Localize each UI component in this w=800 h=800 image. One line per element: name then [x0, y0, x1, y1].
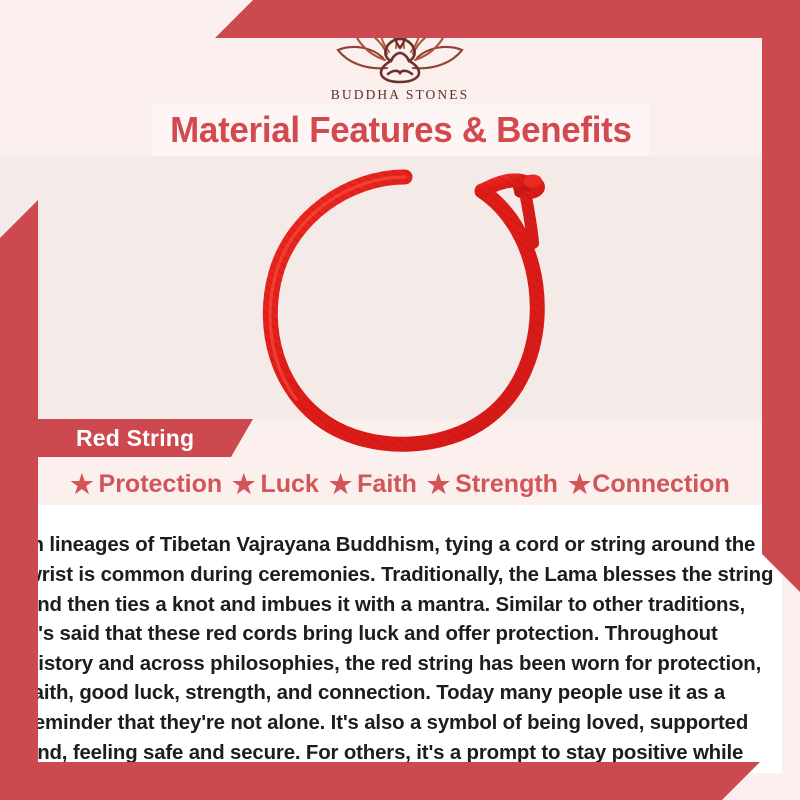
product-image-area — [0, 157, 800, 419]
product-label-banner: Red String — [18, 419, 253, 457]
star-icon: ★ — [232, 471, 255, 497]
decorative-band-bottom — [0, 762, 760, 800]
star-icon: ★ — [427, 471, 450, 497]
benefit-keyword-row: ★Protection★Luck★Faith★Strength★Connecti… — [0, 463, 800, 505]
benefit-keyword: ★Strength — [427, 470, 558, 499]
page-title: Material Features & Benefits — [170, 109, 631, 151]
infographic-poster: BUDDHA STONES Material Features & Benefi… — [0, 0, 800, 800]
description-panel: In lineages of Tibetan Vajrayana Buddhis… — [18, 505, 782, 773]
benefit-keyword-label: Faith — [357, 470, 417, 499]
benefit-keyword-label: Luck — [260, 470, 318, 499]
benefit-keyword: ★Luck — [232, 470, 319, 499]
star-icon: ★ — [568, 471, 591, 497]
decorative-band-right — [762, 0, 800, 592]
description-text: In lineages of Tibetan Vajrayana Buddhis… — [26, 531, 778, 797]
decorative-band-top — [215, 0, 800, 38]
benefit-keyword: ★Protection — [70, 470, 222, 499]
benefit-keyword-label: Connection — [592, 470, 730, 499]
benefit-keyword: ★Connection — [568, 470, 730, 499]
benefit-keyword-label: Strength — [455, 470, 558, 499]
brand-name: BUDDHA STONES — [0, 87, 800, 103]
benefit-keyword: ★Faith — [329, 470, 417, 499]
benefit-keyword-label: Protection — [99, 470, 223, 499]
red-string-bracelet-image — [230, 155, 590, 465]
star-icon: ★ — [70, 471, 93, 497]
decorative-band-left — [0, 200, 38, 800]
star-icon: ★ — [329, 471, 352, 497]
title-plate: Material Features & Benefits — [152, 104, 649, 156]
product-label: Red String — [76, 425, 194, 452]
